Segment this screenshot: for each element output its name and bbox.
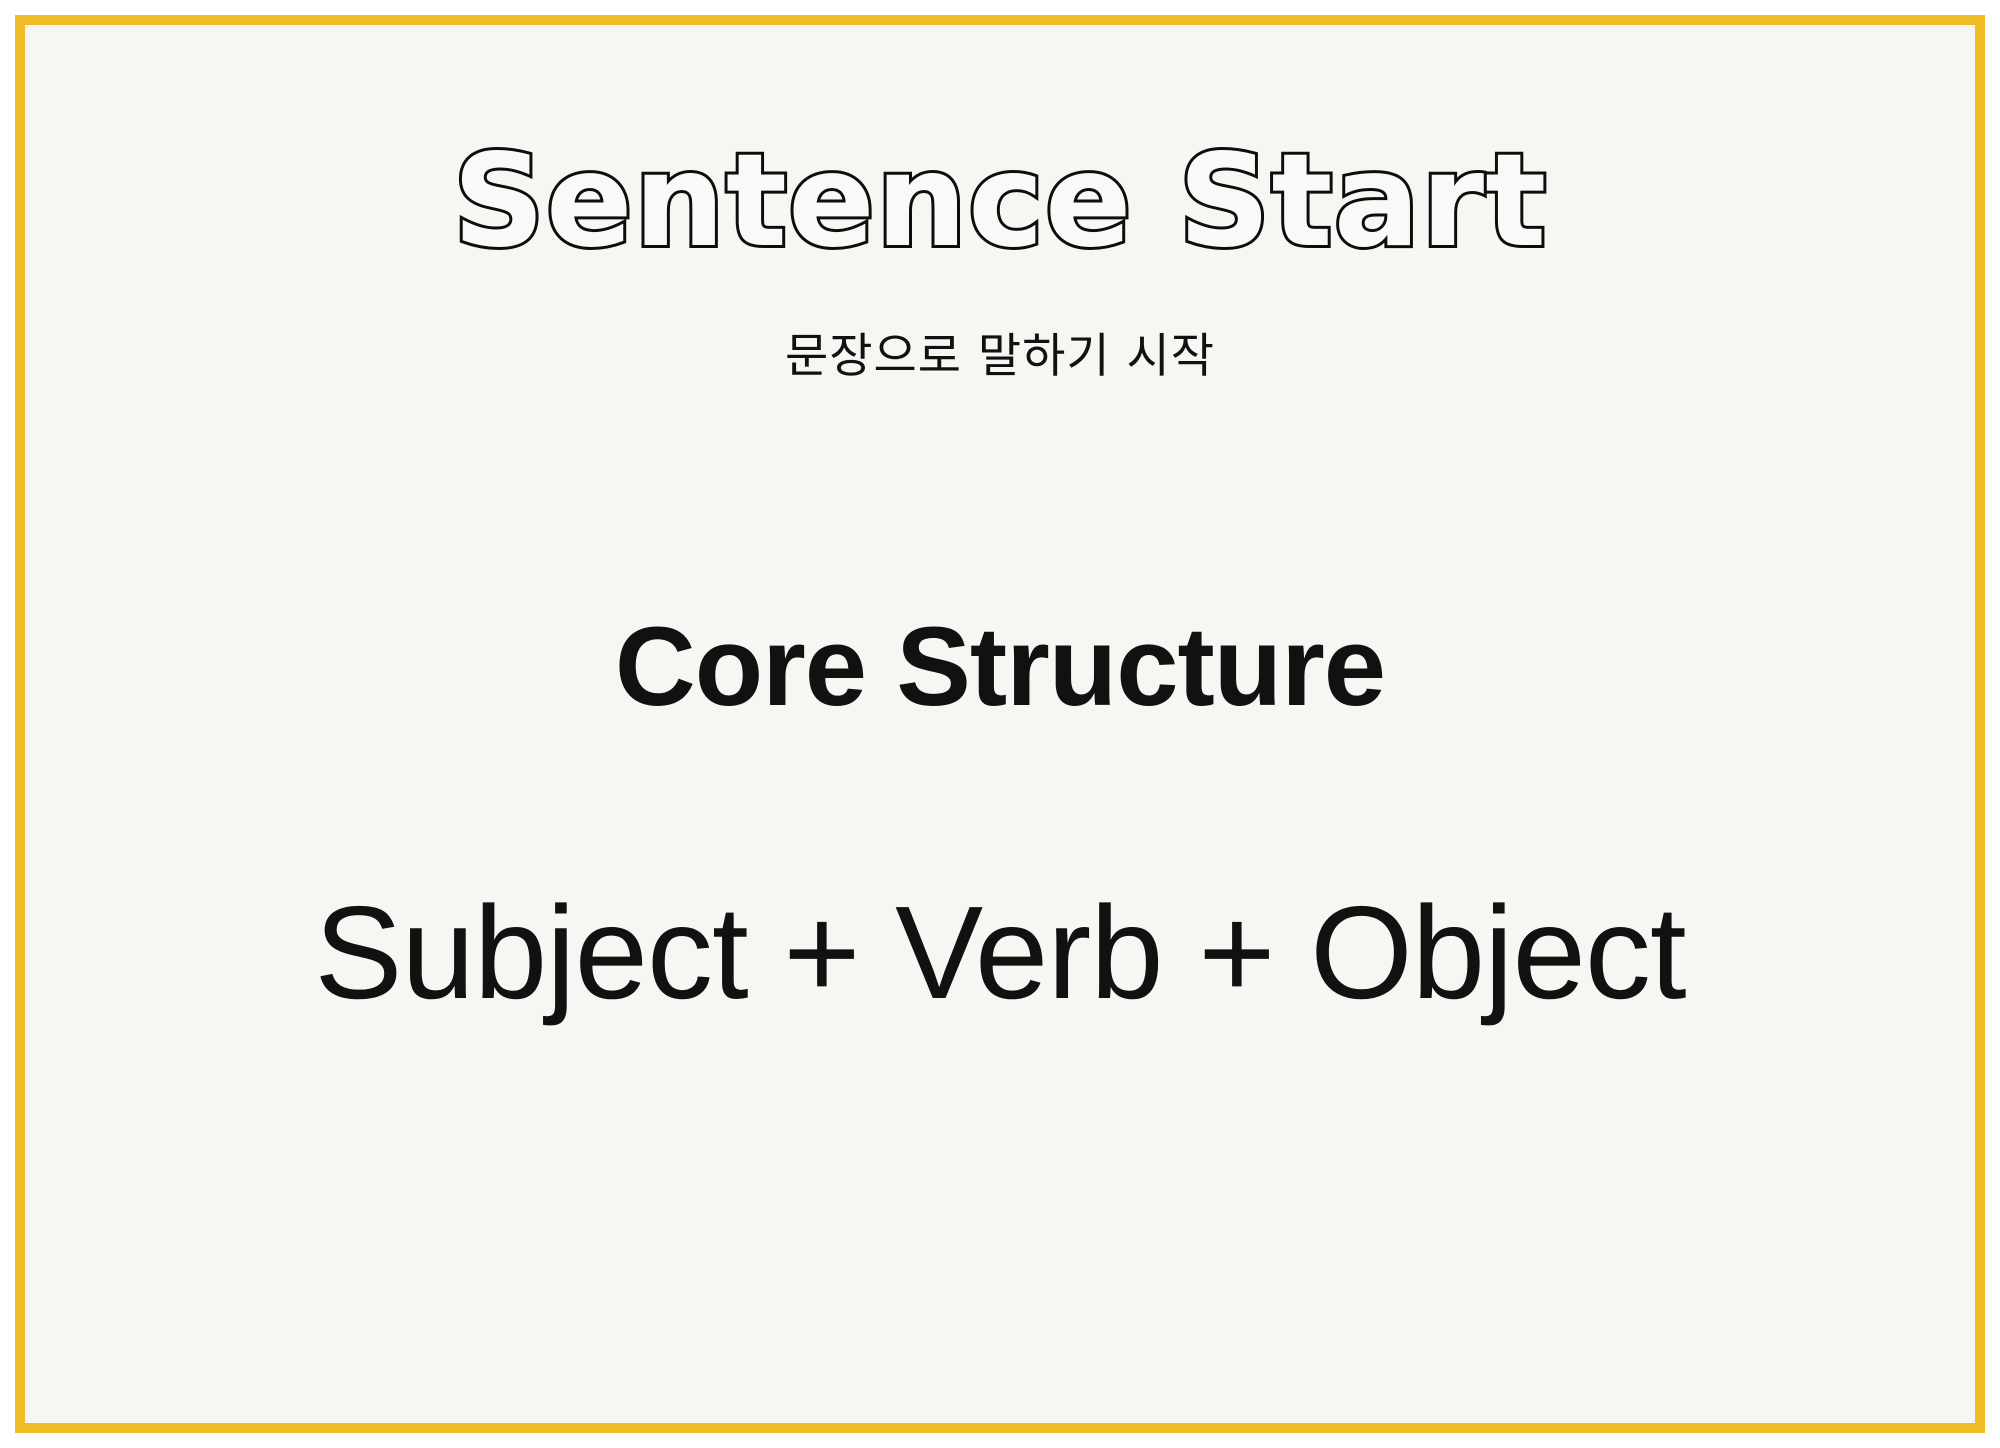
sentence-formula: Subject + Verb + Object (25, 728, 1975, 1025)
header-block: Sentence Start 문장으로 말하기 시작 (25, 135, 1975, 386)
content-block: Core Structure Subject + Verb + Object (25, 605, 1975, 1025)
slide-title: Sentence Start (25, 135, 1975, 269)
section-heading: Core Structure (25, 605, 1975, 728)
slide-frame: Sentence Start 문장으로 말하기 시작 Core Structur… (15, 15, 1985, 1433)
slide-body: Sentence Start 문장으로 말하기 시작 Core Structur… (25, 25, 1975, 1423)
slide-subtitle-korean: 문장으로 말하기 시작 (25, 269, 1975, 386)
